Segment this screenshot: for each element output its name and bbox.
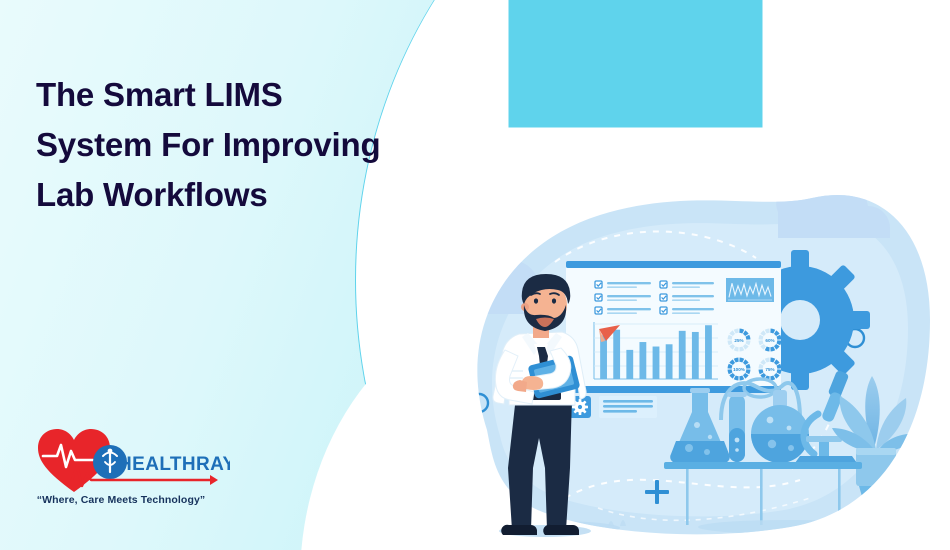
checkbox-checked-icon [595,281,602,288]
bar [653,347,660,379]
headline-line-3: Lab Workflows [36,170,466,220]
page-title: The Smart LIMS System For Improving Lab … [36,70,466,220]
cloud-icon [776,180,890,238]
bar [692,332,699,379]
board-footer [569,396,657,418]
bar [666,344,673,379]
bar [613,330,620,379]
donut-label: 60% [765,338,774,343]
bar [705,325,712,379]
logo-wordmark: HEALTHRAY [118,454,230,475]
donut-label: 25% [734,338,743,343]
headline-line-1: The Smart LIMS [36,70,466,120]
checkbox-checked-icon [595,294,602,301]
donut-label: 75% [765,367,774,372]
dashboard-line-chart [726,278,774,302]
brand-logo[interactable]: HEALTHRAY “Where, Care Meets Technology” [30,424,230,506]
analytics-screen[interactable]: 25%60%100%75% [566,261,781,393]
headline-line-2: System For Improving [36,120,466,170]
donut-label: 100% [733,367,745,372]
logo-mark: HEALTHRAY [30,424,230,492]
bar [626,350,633,379]
hero-banner: 25%60%100%75% [0,0,950,550]
checkbox-checked-icon [660,294,667,301]
checkbox-checked-icon [660,307,667,314]
checkbox-checked-icon [660,281,667,288]
checkbox-checked-icon [595,307,602,314]
logo-tagline: “Where, Care Meets Technology” [30,494,212,506]
bar [639,342,646,379]
test-tube-icon [727,392,747,462]
bar [679,331,686,379]
floor-shadow [698,520,882,534]
